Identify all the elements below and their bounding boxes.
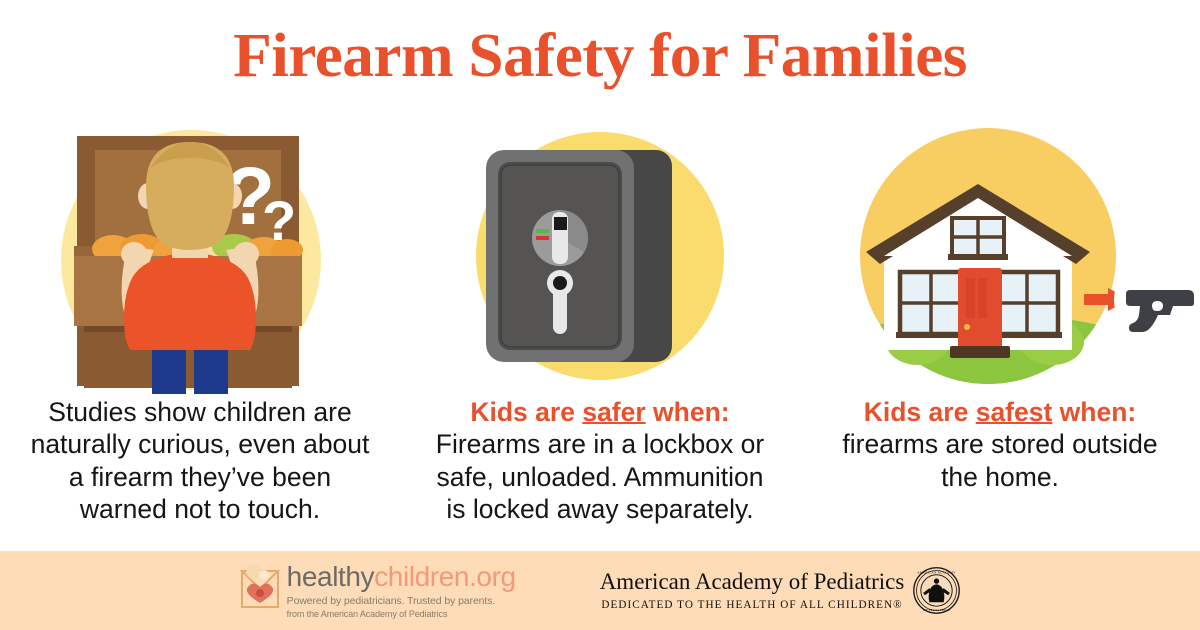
child-at-dresser-with-question-marks-icon: ? ? [0, 128, 400, 394]
svg-text:OF PEDIATRICS: OF PEDIATRICS [923, 608, 950, 612]
lead-underlined-word: safest [976, 397, 1053, 427]
healthychildren-text: healthychildren.org Powered by pediatric… [287, 563, 516, 619]
infographic-poster: Firearm Safety for Families [0, 0, 1200, 630]
panel-caption-lead: Kids are safest when: [824, 396, 1176, 428]
lead-suffix: when: [1052, 397, 1136, 427]
house-with-firearm-removed-icon [800, 128, 1200, 394]
wordmark-children-org: children.org [374, 561, 516, 592]
panel-caption-body: firearms are stored outside the home. [842, 429, 1157, 491]
healthychildren-wordmark: healthychildren.org [287, 563, 516, 591]
svg-text:AMERICAN ACADEMY: AMERICAN ACADEMY [918, 570, 957, 574]
panel-caption-body: Studies show children are naturally curi… [31, 397, 370, 524]
panel-caption: Studies show children are naturally curi… [24, 396, 376, 525]
aap-name: American Academy of Pediatrics [600, 570, 905, 594]
healthychildren-tagline-primary: Powered by pediatricians. Trusted by par… [287, 595, 516, 607]
footer-band: healthychildren.org Powered by pediatric… [0, 551, 1200, 630]
panel-safer: Kids are safer when: Firearms are in a l… [400, 128, 800, 538]
aap-logo[interactable]: American Academy of Pediatrics DEDICATED… [600, 567, 961, 614]
gun-safe-lockbox-icon [400, 128, 800, 394]
aap-circular-seal-icon: AMERICAN ACADEMY OF PEDIATRICS [913, 567, 960, 614]
lead-suffix: when: [646, 397, 730, 427]
panel-row: ? ? [0, 128, 1200, 538]
panel-curiosity: ? ? [0, 128, 400, 538]
healthychildren-logo[interactable]: healthychildren.org Powered by pediatric… [240, 563, 516, 619]
illustration-house-firearm-outside [800, 128, 1200, 394]
panel-caption: Kids are safer when: Firearms are in a l… [424, 396, 776, 525]
panel-safest: Kids are safest when: firearms are store… [800, 128, 1200, 538]
healthychildren-tagline-secondary: from the American Academy of Pediatrics [287, 609, 516, 619]
aap-tagline: DEDICATED TO THE HEALTH OF ALL CHILDREN® [601, 599, 902, 611]
svg-text:?: ? [262, 189, 296, 252]
panel-caption-lead: Kids are safer when: [424, 396, 776, 428]
page-title: Firearm Safety for Families [0, 24, 1200, 89]
wordmark-healthy: healthy [287, 561, 375, 592]
aap-text: American Academy of Pediatrics DEDICATED… [600, 570, 905, 610]
panel-caption-body: Firearms are in a lockbox or safe, unloa… [436, 429, 764, 524]
panel-caption: Kids are safest when: firearms are store… [824, 396, 1176, 493]
illustration-gun-safe [400, 128, 800, 394]
illustration-child-at-dresser: ? ? [0, 128, 400, 394]
lead-underlined-word: safer [582, 397, 645, 427]
lead-prefix: Kids are [470, 397, 582, 427]
lead-prefix: Kids are [864, 397, 976, 427]
parent-and-child-heart-logo-icon [240, 563, 280, 609]
footer-logos: healthychildren.org Powered by pediatric… [240, 563, 961, 619]
